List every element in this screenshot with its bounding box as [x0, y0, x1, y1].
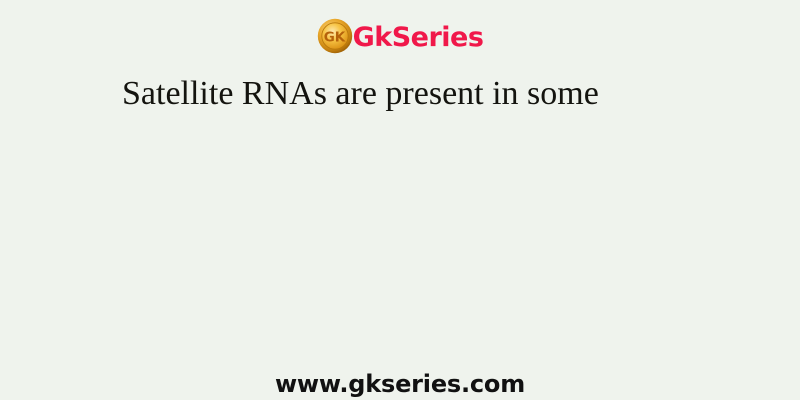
question-area: Satellite RNAs are present in some — [122, 72, 722, 116]
question-heading: Satellite RNAs are present in some — [122, 72, 722, 116]
site-footer: www.gkseries.com — [0, 368, 800, 400]
brand-wordmark: GkSeries — [353, 24, 484, 51]
footer-website-url[interactable]: www.gkseries.com — [275, 372, 525, 396]
site-header: GK GkSeries — [0, 14, 800, 58]
page-root: GK GkSeries Satellite RNAs are present i… — [0, 0, 800, 400]
answer-options-area — [0, 130, 800, 355]
svg-text:GK: GK — [323, 30, 345, 46]
brand-logo-lockup[interactable]: GK GkSeries — [317, 18, 484, 54]
gk-coin-logo-icon: GK — [317, 18, 353, 54]
